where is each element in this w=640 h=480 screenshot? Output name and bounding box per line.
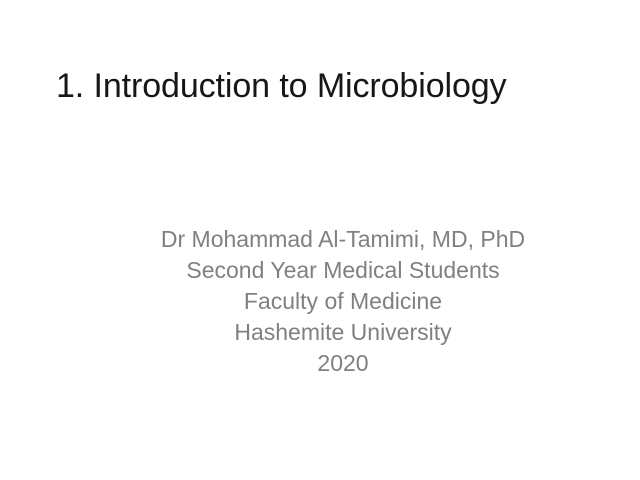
slide-title: 1. Introduction to Microbiology	[56, 64, 586, 108]
subtitle-line-audience: Second Year Medical Students	[118, 255, 568, 286]
subtitle-line-year: 2020	[118, 348, 568, 379]
slide-subtitle-block: Dr Mohammad Al-Tamimi, MD, PhD Second Ye…	[118, 224, 568, 379]
subtitle-line-presenter: Dr Mohammad Al-Tamimi, MD, PhD	[118, 224, 568, 255]
presentation-slide: 1. Introduction to Microbiology Dr Moham…	[0, 0, 640, 480]
subtitle-line-university: Hashemite University	[118, 317, 568, 348]
subtitle-line-faculty: Faculty of Medicine	[118, 286, 568, 317]
